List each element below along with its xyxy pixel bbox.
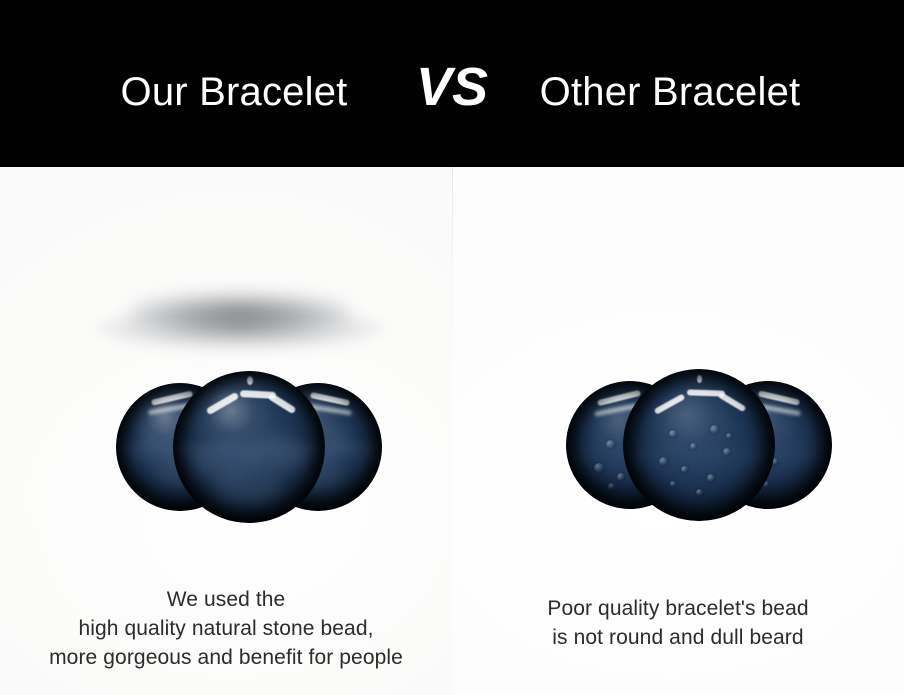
left-caption: We used the high quality natural stone b… [0,585,452,672]
comparison-body: We used the high quality natural stone b… [0,167,904,695]
right-cluster-bead-2 [623,369,775,521]
panel-divider-seam [452,167,453,417]
left-caption-line-2: high quality natural stone bead, [0,614,452,643]
left-bead-cluster-image [120,367,378,527]
left-cluster-bead-2 [173,371,325,523]
header-left-title: Our Bracelet [84,72,384,112]
right-caption-line-1: Poor quality bracelet's bead [452,594,904,623]
left-caption-line-3: more gorgeous and benefit for people [0,643,452,672]
header-banner: Our Bracelet VS Other Bracelet [0,0,904,167]
left-cluster-contact-shadow [130,293,350,331]
bead-rim-shading [623,369,775,521]
left-caption-line-1: We used the [0,585,452,614]
right-caption-line-2: is not round and dull beard [452,623,904,652]
bead-rim-shading [173,371,325,523]
header-right-title: Other Bracelet [520,72,820,112]
comparison-page: Our Bracelet VS Other Bracelet [0,0,904,695]
header-inner: Our Bracelet VS Other Bracelet [0,54,904,114]
right-caption: Poor quality bracelet's bead is not roun… [452,594,904,652]
right-bead-cluster-image [570,365,828,525]
header-vs-label: VS [402,60,502,114]
